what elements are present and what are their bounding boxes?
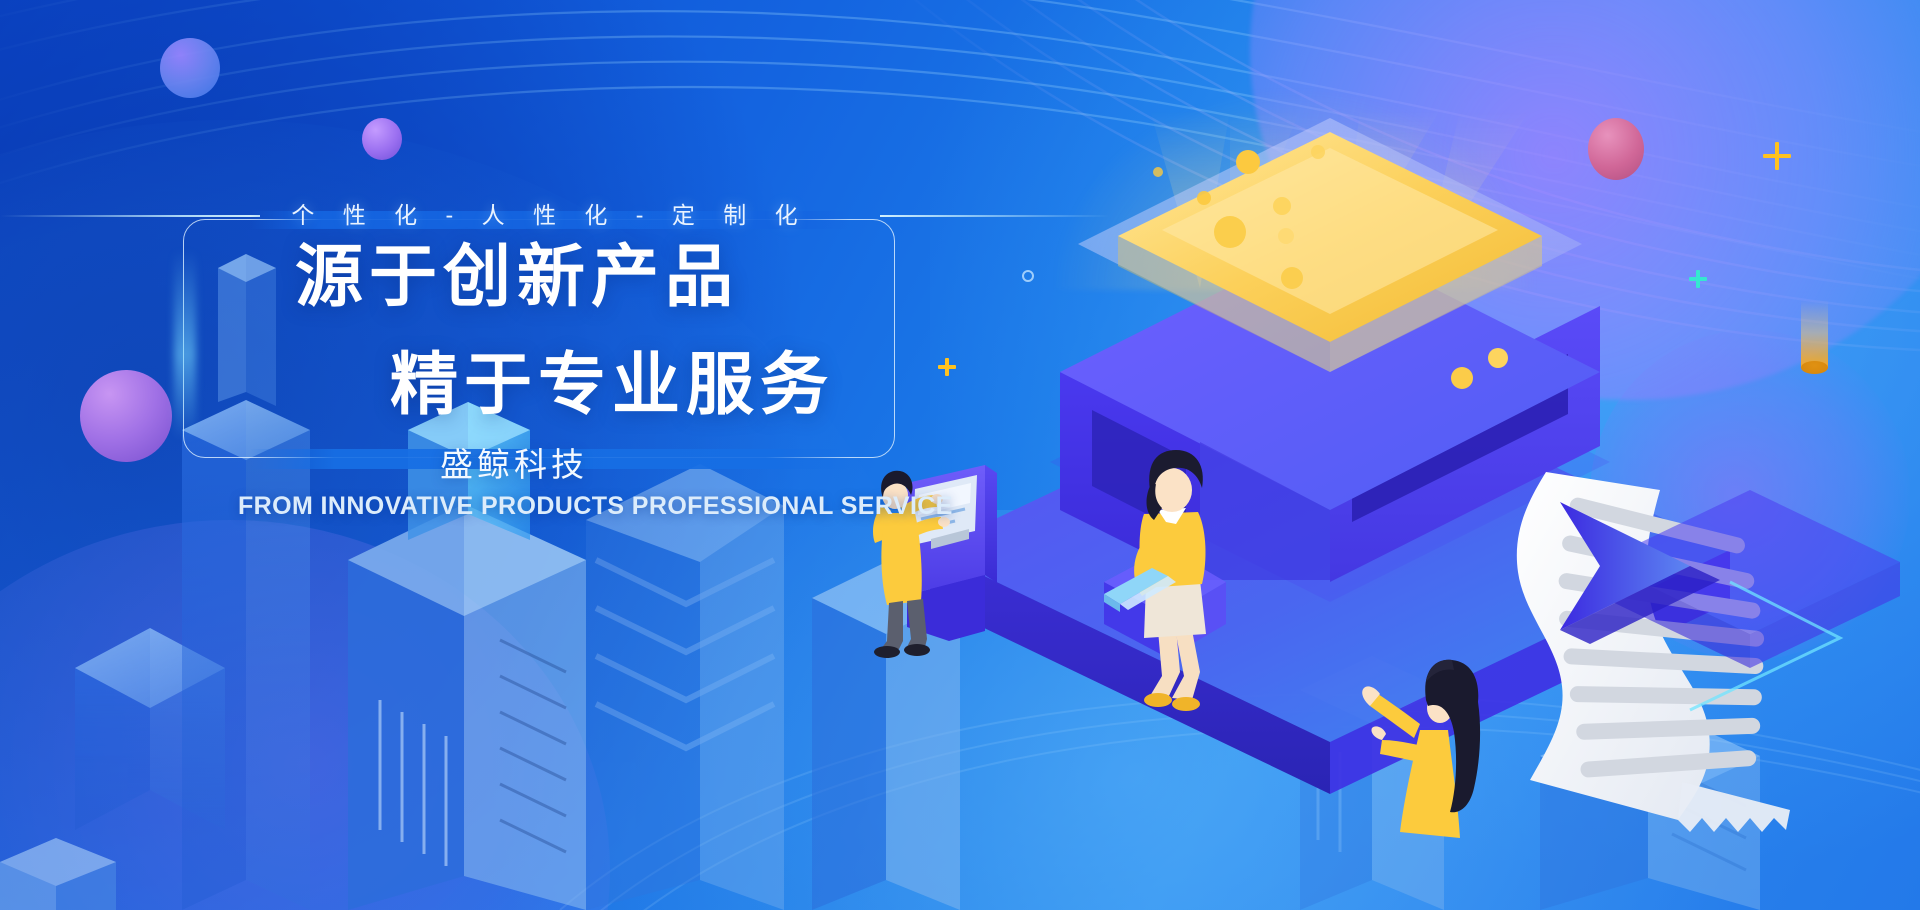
frame-glow-left [174, 250, 196, 440]
hero-banner: 个 性 化 - 人 性 化 - 定 制 化 源于创新产品 精于专业服务 盛鲸科技… [0, 0, 1920, 910]
hero-tagline: 个 性 化 - 人 性 化 - 定 制 化 [0, 196, 1100, 230]
brand-name: 盛鲸科技 [440, 438, 588, 486]
hero-text-block: 个 性 化 - 人 性 化 - 定 制 化 源于创新产品 精于专业服务 盛鲸科技… [0, 0, 1100, 700]
hero-english-subtitle: FROM INNOVATIVE PRODUCTS PROFESSIONAL SE… [238, 492, 858, 521]
hero-headline-line-2: 精于专业服务 [390, 351, 834, 419]
hero-headline-line-1: 源于创新产品 [295, 243, 739, 311]
